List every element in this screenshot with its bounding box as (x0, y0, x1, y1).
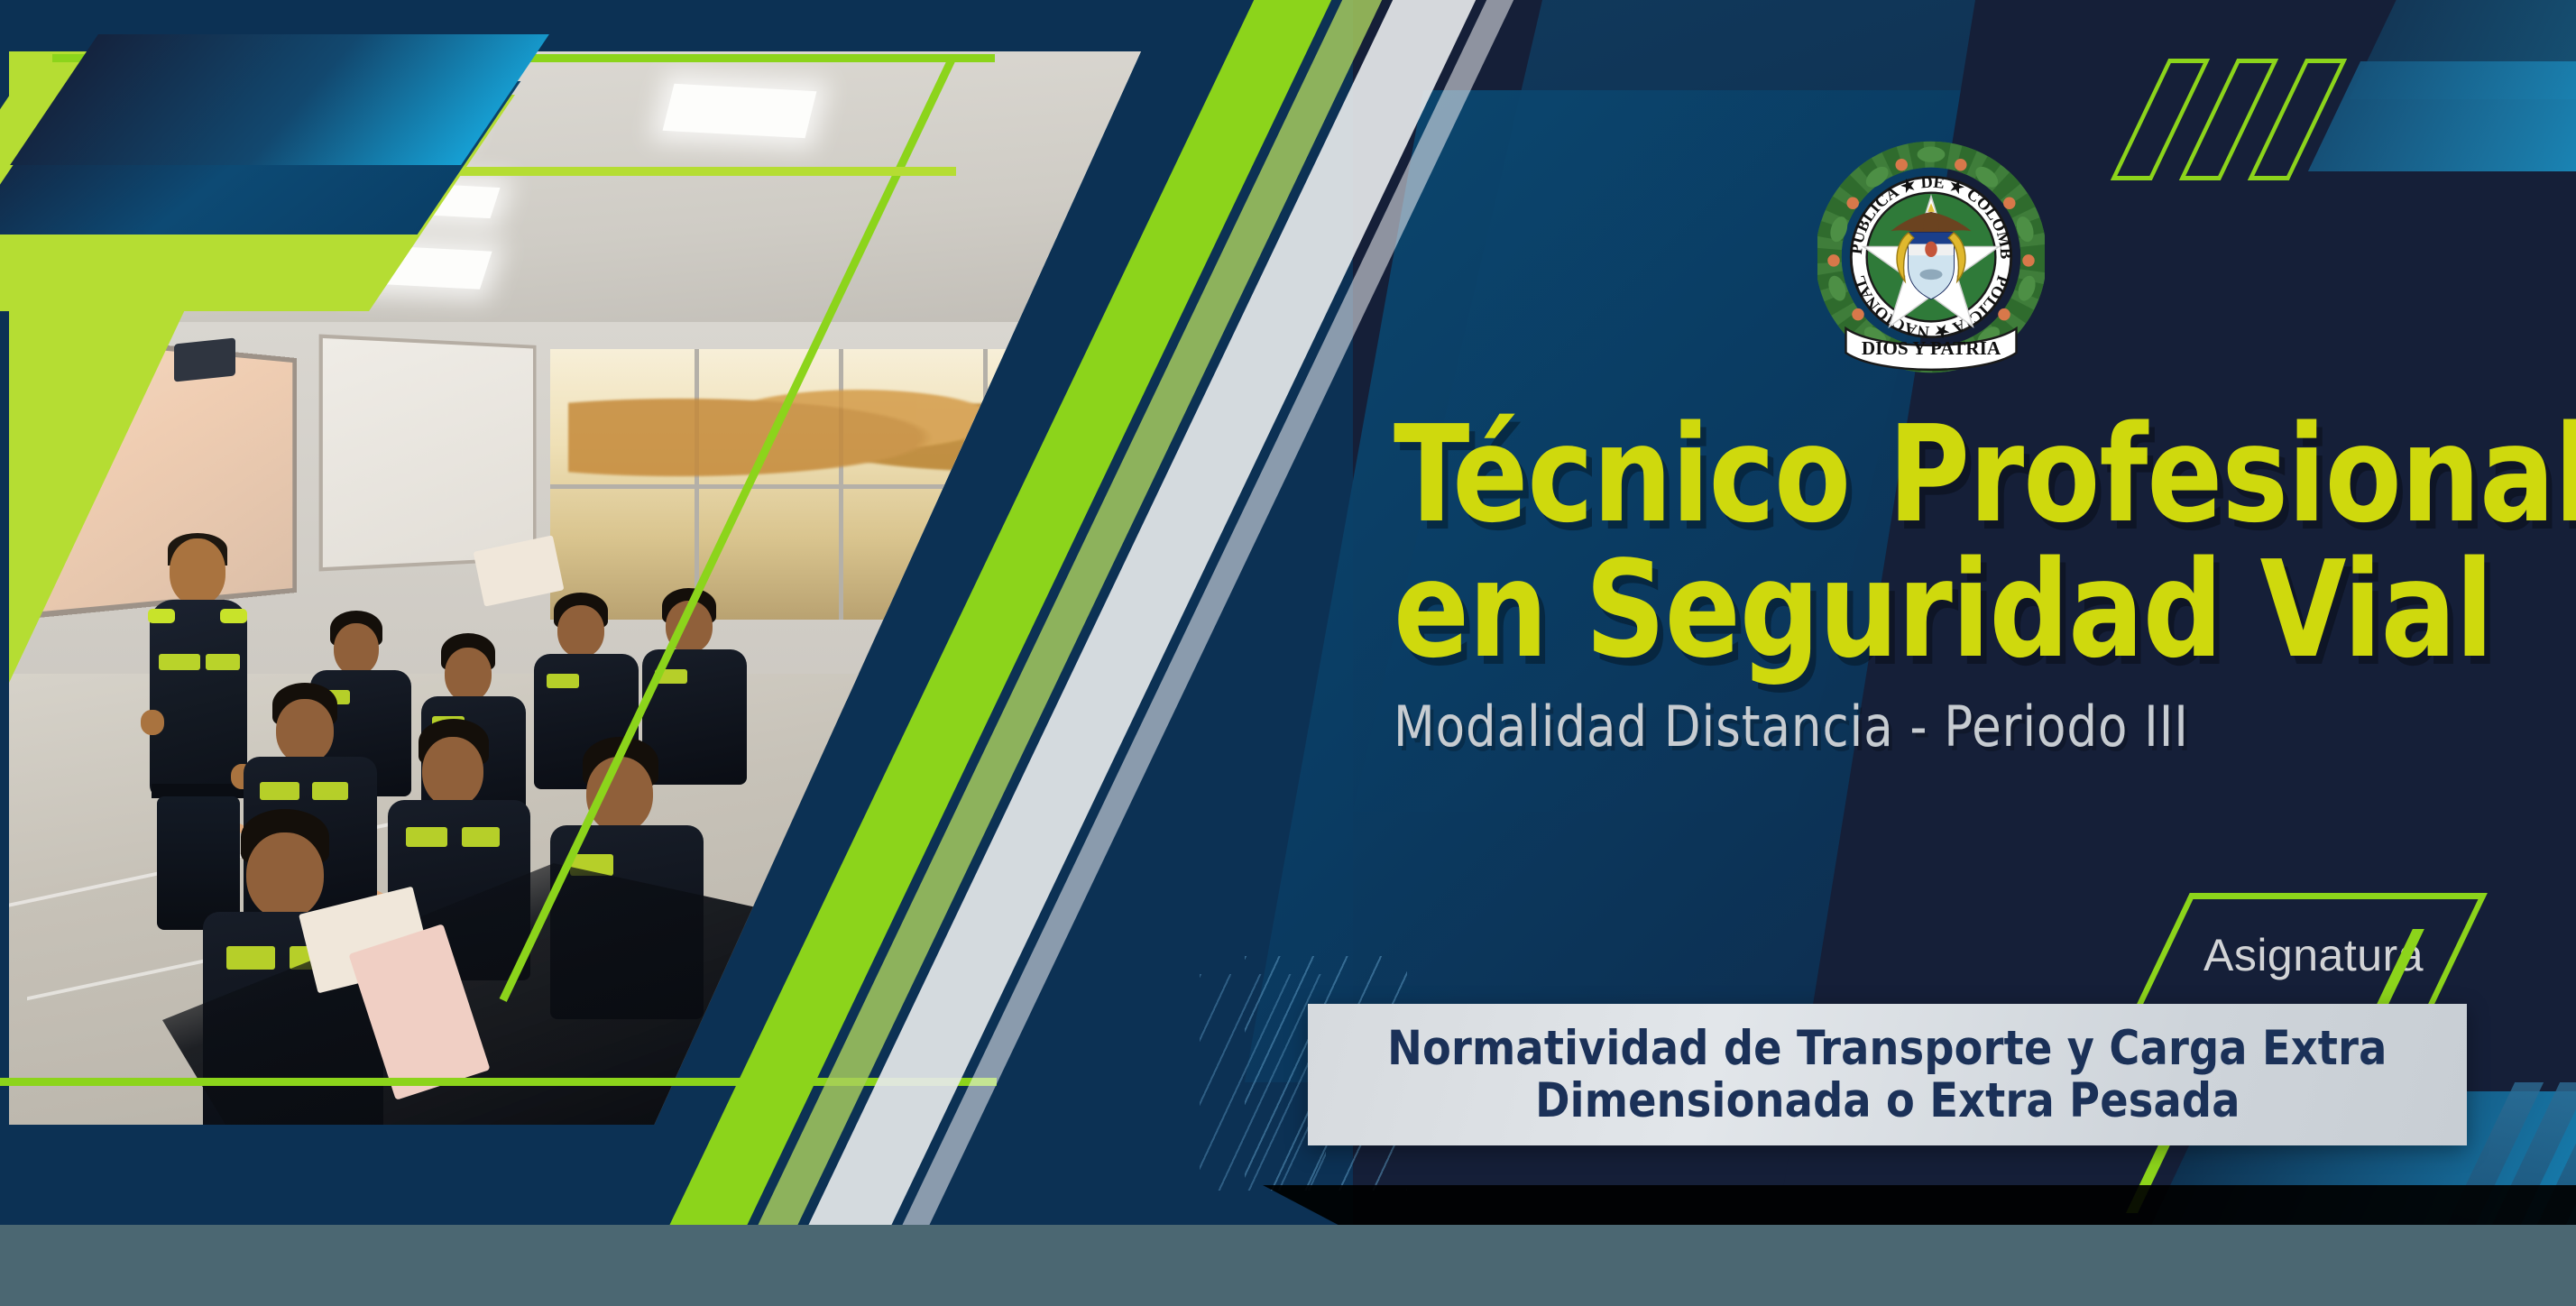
course-banner: REPUBLICA ★ DE ★ COLOMBIA POLICIA ★ NACI… (0, 0, 2576, 1306)
page-subtitle: Modalidad Distancia - Periodo III (1394, 694, 2507, 759)
page-title-line-2: en Seguridad Vial (1394, 546, 2484, 674)
bottom-shadow (1263, 1185, 2576, 1227)
asignatura-box: Normatividad de Transporte y Carga Extra… (1308, 1004, 2467, 1145)
svg-text:DIOS Y PATRIA: DIOS Y PATRIA (1862, 337, 2001, 359)
photo-projector (174, 337, 235, 382)
bottom-band (0, 1225, 2576, 1306)
photo-whiteboard-secondary (319, 335, 537, 572)
asignatura-line-1: Normatividad de Transporte y Carga Extra (1387, 1023, 2387, 1074)
policia-nacional-crest-icon: REPUBLICA ★ DE ★ COLOMBIA POLICIA ★ NACI… (1817, 135, 2045, 379)
decor-top-left-blue (10, 34, 549, 165)
page-title-line-1: Técnico Profesional (1394, 410, 2484, 538)
title-block: Técnico Profesional en Seguridad Vial Mo… (1394, 410, 2566, 759)
ceiling-light-icon (663, 84, 817, 138)
asignatura-line-2: Dimensionada o Extra Pesada (1535, 1075, 2240, 1127)
